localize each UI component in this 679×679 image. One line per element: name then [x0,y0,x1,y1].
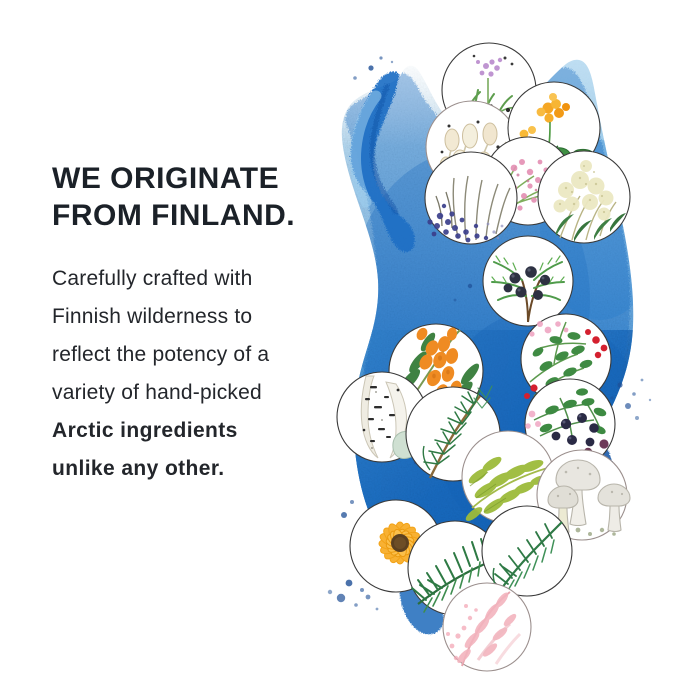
poster-canvas: WE ORIGINATE FROM FINLAND. Carefully cra… [0,0,679,679]
ingredient-circle-conifer-sprig [482,506,572,596]
body-line-1: Carefully crafted with [52,260,352,298]
marketing-copy-block: WE ORIGINATE FROM FINLAND. Carefully cra… [52,160,352,488]
body-line-4: variety of hand-picked [52,374,352,412]
ingredient-circle-meadowsweet [538,151,630,243]
page-title: WE ORIGINATE FROM FINLAND. [52,160,352,234]
body-paragraph: Carefully crafted with Finnish wildernes… [52,260,352,488]
body-line-2: Finnish wilderness to [52,298,352,336]
body-line-5: Arctic ingredients [52,412,352,450]
ingredient-circle-juniper [483,236,573,326]
ingredient-circle-rose-bay [443,583,531,671]
body-line-3: reflect the potency of a [52,336,352,374]
ingredient-circle-blueberry-grass [425,152,517,244]
body-line-6: unlike any other. [52,450,352,488]
